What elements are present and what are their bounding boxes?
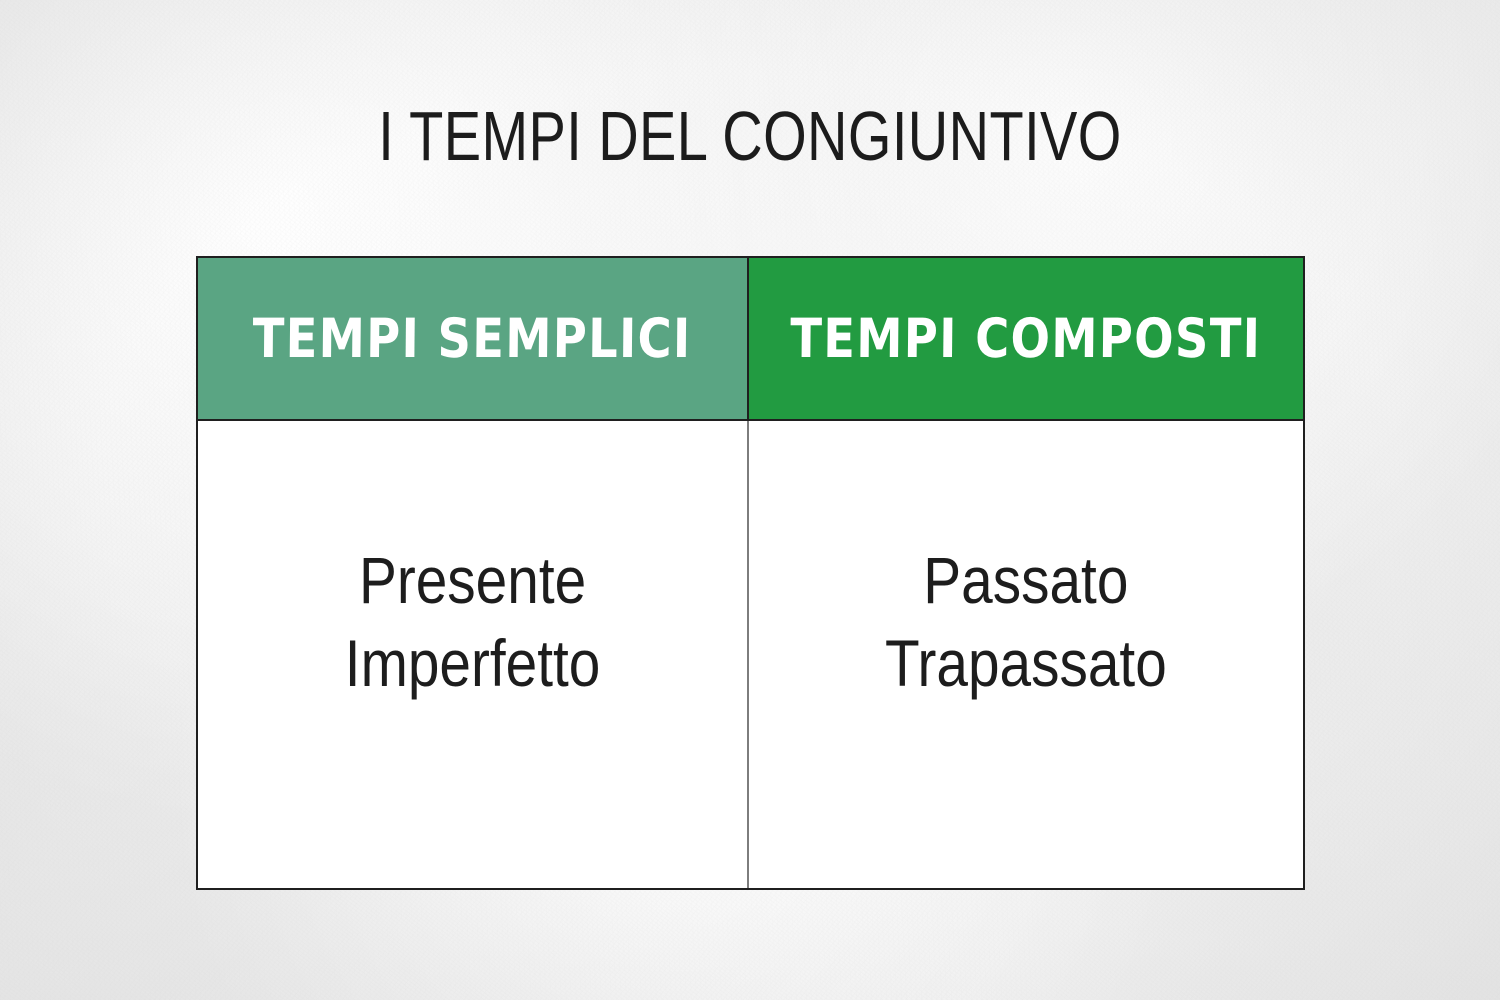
list-item: Presente bbox=[345, 539, 601, 622]
page-title: I TEMPI DEL CONGIUNTIVO bbox=[150, 101, 1350, 171]
table-body-row: Presente Imperfetto Passato Trapassato bbox=[198, 421, 1303, 888]
list-item: Trapassato bbox=[885, 622, 1167, 705]
tempi-comparison-table: TEMPI SEMPLICI TEMPI COMPOSTI Presente I… bbox=[196, 256, 1305, 890]
table-header-cell-tempi-semplici: TEMPI SEMPLICI bbox=[198, 258, 749, 419]
tempi-composti-list: Passato Trapassato bbox=[885, 539, 1167, 704]
table-header-row: TEMPI SEMPLICI TEMPI COMPOSTI bbox=[198, 258, 1303, 421]
table-body-cell-tempi-composti: Passato Trapassato bbox=[749, 421, 1303, 888]
table-header-label-tempi-semplici: TEMPI SEMPLICI bbox=[253, 312, 692, 366]
table-header-cell-tempi-composti: TEMPI COMPOSTI bbox=[749, 258, 1303, 419]
tempi-semplici-list: Presente Imperfetto bbox=[345, 539, 601, 704]
list-item: Passato bbox=[885, 539, 1167, 622]
table-header-label-tempi-composti: TEMPI COMPOSTI bbox=[790, 312, 1261, 366]
table-body-cell-tempi-semplici: Presente Imperfetto bbox=[198, 421, 749, 888]
slide-canvas: I TEMPI DEL CONGIUNTIVO TEMPI SEMPLICI T… bbox=[0, 0, 1500, 1000]
list-item: Imperfetto bbox=[345, 622, 601, 705]
